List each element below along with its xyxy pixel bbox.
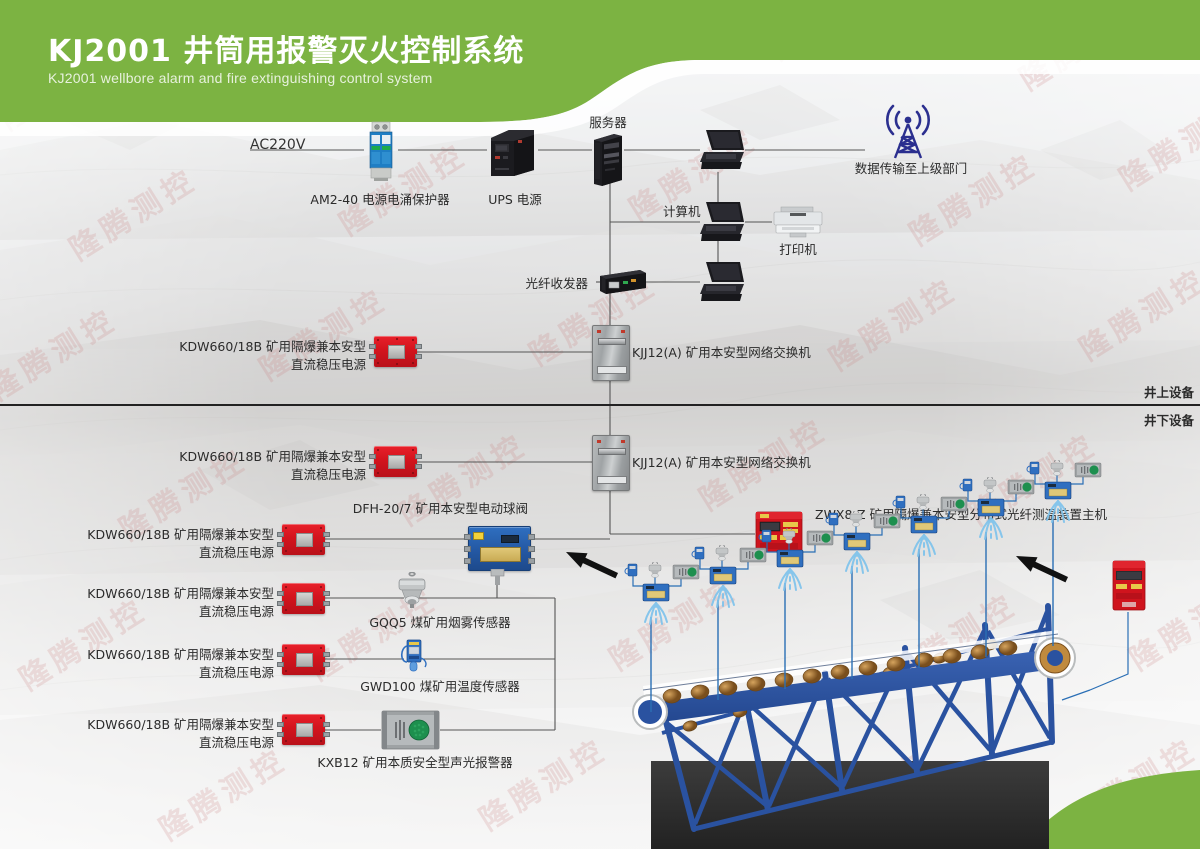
station-valve-icon — [710, 567, 736, 584]
field-control-box-icon — [1112, 559, 1146, 612]
station-smoke-sensor-icon — [716, 545, 728, 561]
station-smoke-sensor-icon — [984, 477, 996, 493]
station-temp-sensor-icon — [826, 513, 838, 525]
sprinkler-station-icon — [1023, 460, 1113, 526]
arrow-to-valve — [563, 545, 621, 583]
station-valve-icon — [844, 533, 870, 550]
station-temp-sensor-icon — [960, 479, 972, 491]
station-smoke-sensor-icon — [1051, 460, 1063, 476]
pointer-arrows — [0, 0, 1200, 849]
water-spray-icon — [980, 518, 1002, 541]
water-spray-icon — [779, 569, 801, 592]
water-spray-icon — [913, 535, 935, 558]
station-valve-icon — [1045, 482, 1071, 499]
water-spray-icon — [846, 552, 868, 575]
station-smoke-sensor-icon — [850, 511, 862, 527]
station-smoke-sensor-icon — [783, 528, 795, 544]
station-temp-sensor-icon — [893, 496, 905, 508]
diagram-canvas: 隆腾测控 隆腾测控 隆腾测控 隆腾测控 隆腾测控 隆腾测控 隆腾测控 隆腾测控 … — [0, 0, 1200, 849]
station-alarm-icon — [1075, 463, 1101, 477]
water-spray-icon — [645, 603, 667, 626]
station-temp-sensor-icon — [759, 530, 771, 542]
arrow-to-fiber-host — [1013, 549, 1071, 587]
field-control-box-device — [1112, 559, 1146, 612]
station-smoke-sensor-icon — [917, 494, 929, 510]
sprinkler-station — [1023, 460, 1113, 526]
water-spray-icon — [1047, 501, 1069, 524]
station-valve-icon — [978, 499, 1004, 516]
station-temp-sensor-icon — [692, 547, 704, 559]
station-temp-sensor-icon — [625, 564, 637, 576]
station-valve-icon — [911, 516, 937, 533]
water-spray-icon — [712, 586, 734, 609]
station-smoke-sensor-icon — [649, 562, 661, 578]
station-valve-icon — [777, 550, 803, 567]
station-temp-sensor-icon — [1027, 462, 1039, 474]
station-valve-icon — [643, 584, 669, 601]
